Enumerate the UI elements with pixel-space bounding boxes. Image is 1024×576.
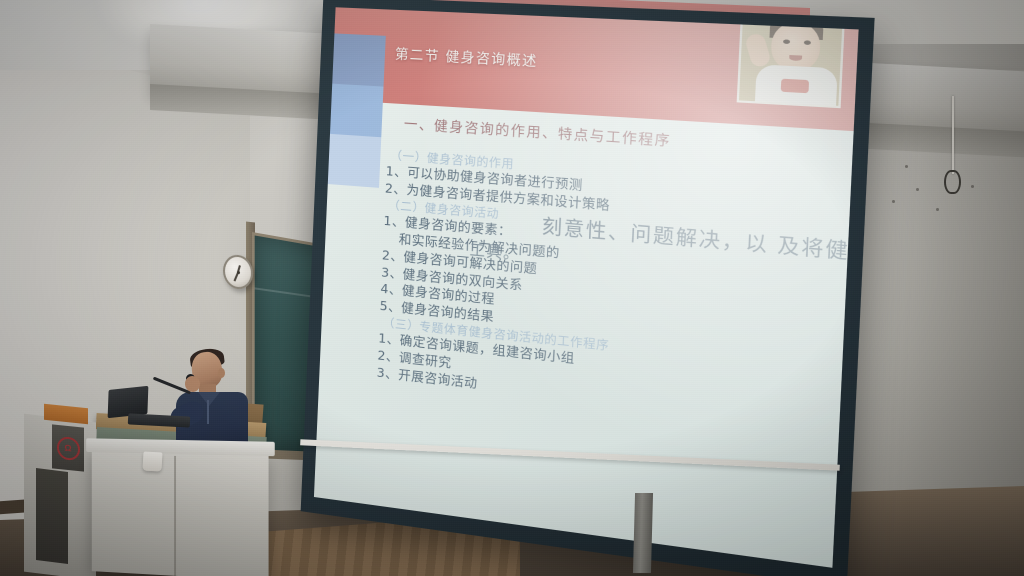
slide-heading: 一、健身咨询的作用、特点与工作程序 <box>404 112 672 150</box>
cord-loop-icon <box>944 170 961 194</box>
podium-top-surface <box>86 438 275 456</box>
baby-head <box>770 21 821 71</box>
screen-support-post <box>633 493 653 573</box>
podium-seam <box>174 456 176 576</box>
wall-mark <box>905 165 908 168</box>
wall-mark <box>971 185 974 188</box>
accent-block-3 <box>328 134 381 188</box>
clock-center-pin <box>237 270 240 273</box>
baby-eye-right <box>804 40 811 45</box>
baby-bib <box>781 79 809 94</box>
slide-overlay-text-2: 工具。 <box>469 238 520 264</box>
wall-mark <box>892 200 895 203</box>
screen-frame: 第二节 健身咨询概述 一、健身咨询的作用、特点与工作程序 （一）健身咨询的作用 … <box>301 0 875 576</box>
projection-screen: 第二节 健身咨询概述 一、健身咨询的作用、特点与工作程序 （一）健身咨询的作用 … <box>301 0 875 576</box>
wall-mark <box>936 208 939 211</box>
podium-emblem-panel: Ω <box>52 424 84 471</box>
lecture-podium <box>92 448 269 576</box>
lecturer-placket <box>207 400 209 424</box>
baby-mouth <box>789 55 802 61</box>
baby-eye-left <box>783 39 790 44</box>
podium-dark-panel <box>36 468 68 564</box>
accent-block-2 <box>330 84 384 138</box>
baby-photo <box>737 9 846 108</box>
lecturer-ear <box>218 368 225 378</box>
slide-body: （一）健身咨询的作用 1、可以协助健身咨询者进行预测 2、为健身咨询者提供方案和… <box>376 148 842 432</box>
podium-logo-icon: Ω <box>57 435 80 460</box>
baby-arm <box>744 32 772 68</box>
hanging-wall-cord <box>952 96 954 174</box>
accent-block-1 <box>332 33 386 86</box>
lecture-hall-photo: 第二节 健身咨询概述 一、健身咨询的作用、特点与工作程序 （一）健身咨询的作用 … <box>0 0 1024 576</box>
wall-mark <box>916 188 919 191</box>
screen-canvas: 第二节 健身咨询概述 一、健身咨询的作用、特点与工作程序 （一）健身咨询的作用 … <box>314 7 859 568</box>
powerpoint-slide: 第二节 健身咨询概述 一、健身咨询的作用、特点与工作程序 （一）健身咨询的作用 … <box>314 7 859 568</box>
slide-accent-blocks <box>328 33 386 187</box>
paper-cup <box>143 452 163 472</box>
